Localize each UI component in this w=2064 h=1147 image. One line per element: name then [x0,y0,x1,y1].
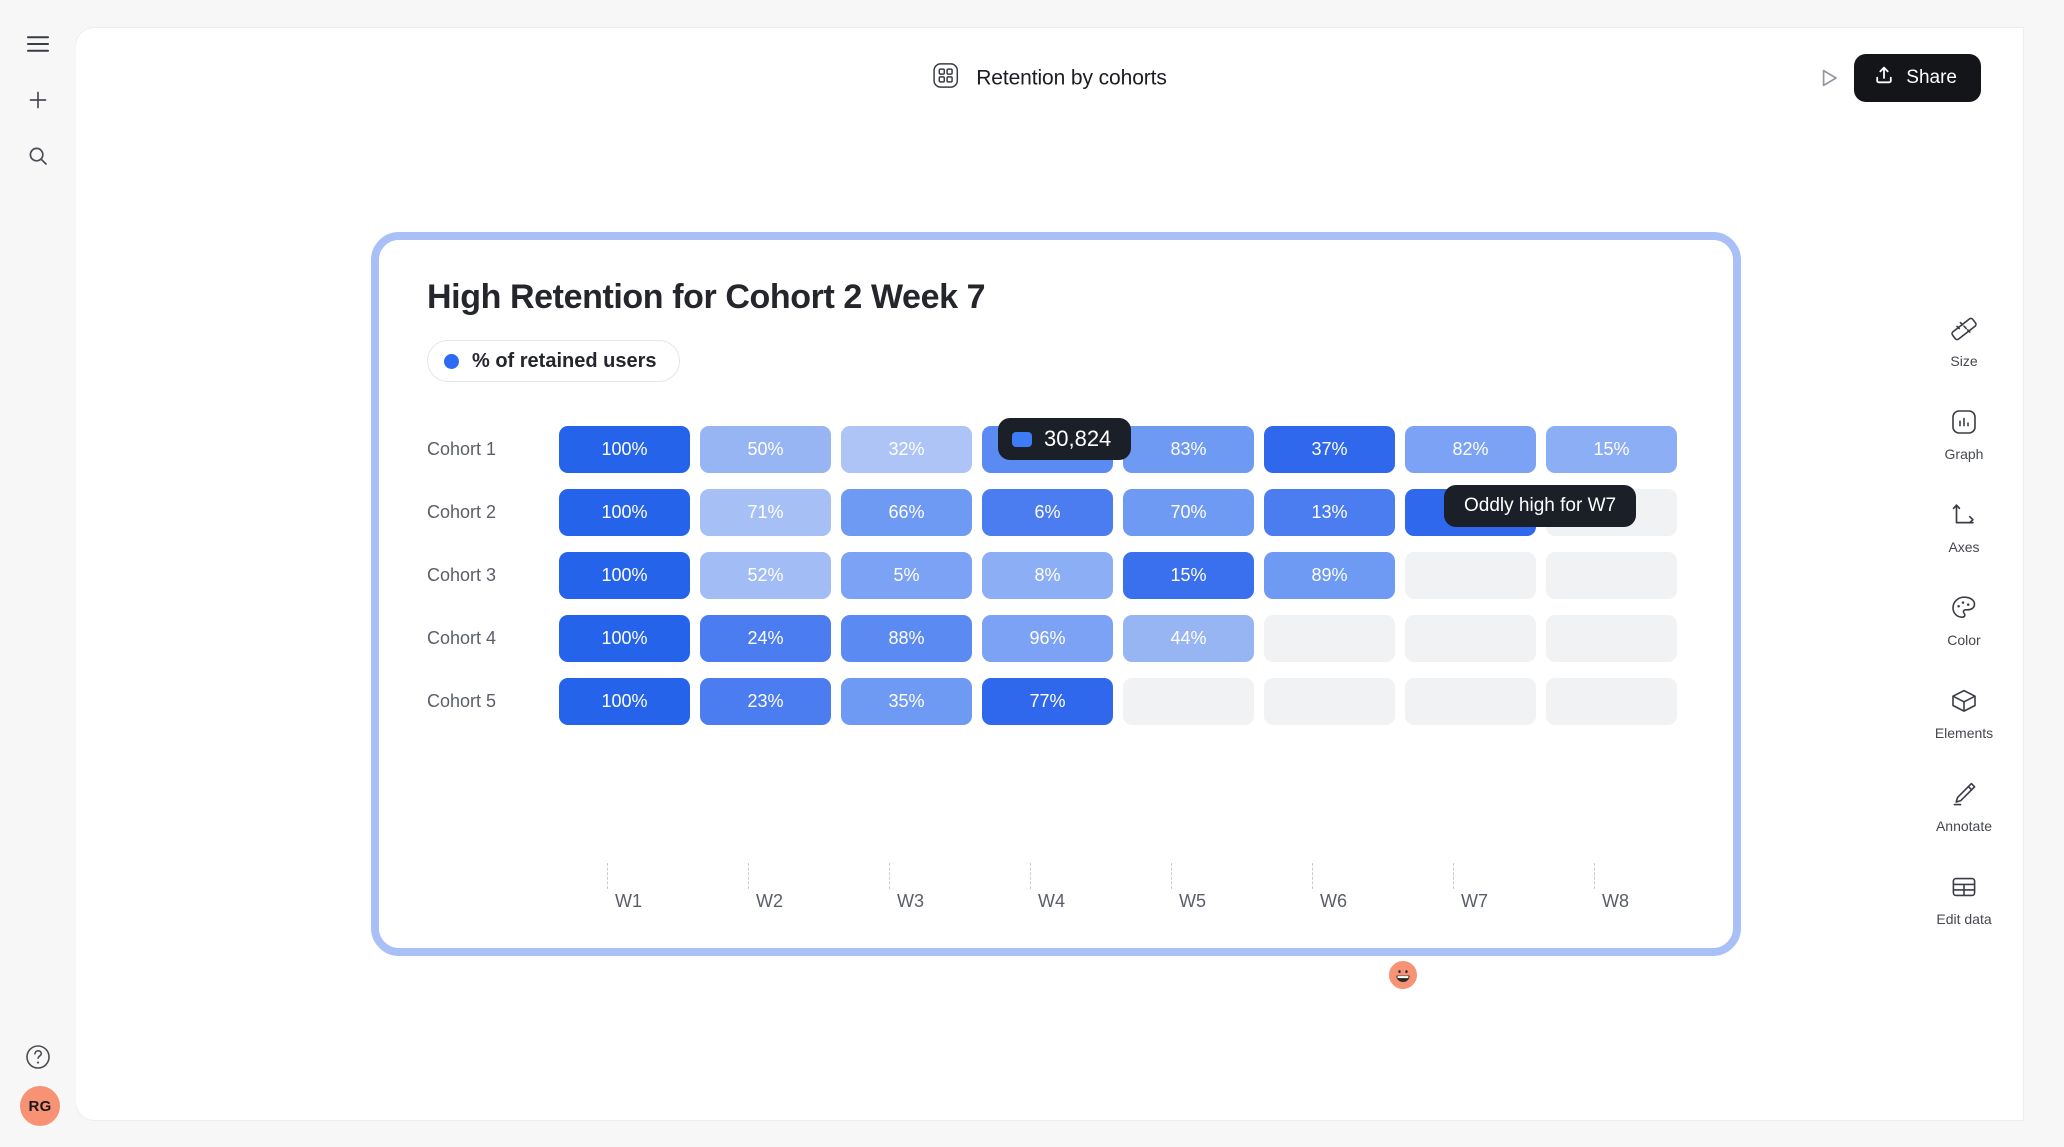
tool-edit-data[interactable]: Edit data [1914,870,2014,927]
tool-elements[interactable]: Elements [1914,684,2014,741]
tool-size[interactable]: Size [1914,312,2014,369]
tick-mark [1453,863,1454,889]
heatmap-cell[interactable]: 71% [700,489,831,536]
share-button[interactable]: Share [1854,54,1981,102]
tool-axes[interactable]: Axes [1914,498,2014,555]
heatmap-cell[interactable]: 82% [1405,426,1536,473]
x-axis-label: W6 [1320,891,1347,912]
heatmap-cell[interactable]: 24% [700,615,831,662]
heatmap-cell[interactable]: 6% [982,489,1113,536]
heatmap-cell[interactable]: 52% [700,552,831,599]
main-surface: Retention by cohorts Share H [76,28,2023,1120]
row-label: Cohort 3 [427,565,559,586]
x-axis-tick: W6 [1312,863,1453,923]
legend-label: % of retained users [472,350,657,373]
x-axis-tick: W4 [1030,863,1171,923]
heatmap-cell[interactable]: 8% [982,552,1113,599]
x-axis-label: W5 [1179,891,1206,912]
heatmap-cell[interactable]: 96% [982,615,1113,662]
heatmap-cell-empty [1546,552,1677,599]
heatmap-cell[interactable]: 70% [1123,489,1254,536]
heatmap-cell[interactable]: 100% [559,426,690,473]
x-axis-label: W7 [1461,891,1488,912]
heatmap-cell-empty [1546,615,1677,662]
row-label: Cohort 2 [427,502,559,523]
axes-icon [1947,498,1981,532]
emoji-reaction-badge[interactable] [1386,958,1420,992]
page-title: Retention by cohorts [976,66,1167,90]
row-cells: 100%24%88%96%44% [559,615,1677,662]
x-axis-tick: W2 [748,863,889,923]
heatmap-cell[interactable]: 23% [700,678,831,725]
tool-graph[interactable]: Graph [1914,405,2014,462]
x-axis-tick: W1 [607,863,748,923]
search-icon[interactable] [18,136,58,176]
heatmap-cell[interactable]: 5% [841,552,972,599]
heatmap-cell[interactable]: 89% [1264,552,1395,599]
tick-mark [1171,863,1172,889]
row-cells: 100%52%5%8%15%89% [559,552,1677,599]
heatmap-row: Cohort 4100%24%88%96%44% [427,615,1697,662]
tool-rail: SizeGraphAxesColorElementsAnnotateEdit d… [1905,312,2023,927]
heatmap-cell-empty [1546,678,1677,725]
tick-mark [1312,863,1313,889]
heatmap-cell[interactable]: 100% [559,489,690,536]
heatmap-cell-empty [1123,678,1254,725]
x-axis-label: W8 [1602,891,1629,912]
table-icon [1947,870,1981,904]
tool-label: Graph [1945,446,1984,462]
tool-label: Annotate [1936,818,1992,834]
ruler-icon [1947,312,1981,346]
share-button-label: Share [1906,67,1957,89]
bar-chart-icon [1947,405,1981,439]
row-cells: 100%23%35%77% [559,678,1677,725]
value-tooltip: 30,824 [998,418,1131,460]
tool-label: Color [1947,632,1980,648]
tick-mark [889,863,890,889]
tool-label: Size [1950,353,1977,369]
heatmap-cell[interactable]: 32% [841,426,972,473]
heatmap-cell-empty [1264,678,1395,725]
tool-color[interactable]: Color [1914,591,2014,648]
box-icon [1947,684,1981,718]
help-circle-icon[interactable] [18,1037,58,1077]
tool-label: Axes [1948,539,1979,555]
tick-mark [748,863,749,889]
heatmap-cell[interactable]: 37% [1264,426,1395,473]
plus-icon[interactable] [18,80,58,120]
legend-item[interactable]: % of retained users [427,340,680,382]
hamburger-menu-icon[interactable] [18,24,58,64]
chart-card-selection[interactable]: High Retention for Cohort 2 Week 7 % of … [371,232,1741,956]
heatmap-row: Cohort 5100%23%35%77% [427,678,1697,725]
x-axis-tick: W8 [1594,863,1735,923]
x-axis-label: W4 [1038,891,1065,912]
tool-label: Elements [1935,725,1993,741]
heatmap-cell[interactable]: 13% [1264,489,1395,536]
grinning-face-icon [1392,964,1414,986]
document-title[interactable]: Retention by cohorts [932,63,1167,94]
heatmap-cell[interactable]: 77% [982,678,1113,725]
heatmap-cell[interactable]: 50% [700,426,831,473]
x-axis-tick: W3 [889,863,1030,923]
legend-color-dot [444,354,459,369]
heatmap-row: Cohort 3100%52%5%8%15%89% [427,552,1697,599]
x-axis-label: W3 [897,891,924,912]
top-bar: Retention by cohorts Share [76,28,2023,128]
app-root: RG Retention by cohorts [0,0,2064,1147]
x-axis-tick: W5 [1171,863,1312,923]
heatmap-cell[interactable]: 66% [841,489,972,536]
heatmap-cell[interactable]: 44% [1123,615,1254,662]
left-rail: RG [0,0,76,1147]
heatmap-cell[interactable]: 100% [559,615,690,662]
heatmap-cell-empty [1405,678,1536,725]
x-axis-label: W2 [756,891,783,912]
grid-app-icon [932,63,958,94]
x-axis-label: W1 [615,891,642,912]
tooltip-swatch [1012,432,1032,447]
heatmap-cell-empty [1264,615,1395,662]
x-axis: W1W2W3W4W5W6W7W8 [607,863,1742,923]
heatmap-cell[interactable]: 15% [1546,426,1677,473]
row-label: Cohort 5 [427,691,559,712]
heatmap-cell[interactable]: 83% [1123,426,1254,473]
x-axis-tick: W7 [1453,863,1594,923]
heatmap-cell[interactable]: 100% [559,678,690,725]
heatmap-cell[interactable]: 88% [841,615,972,662]
row-label: Cohort 1 [427,439,559,460]
tooltip-value: 30,824 [1044,426,1111,452]
heatmap-cell-empty [1405,552,1536,599]
upload-icon [1874,65,1894,91]
annotation-text: Oddly high for W7 [1464,495,1616,517]
marker-pen-icon [1947,777,1981,811]
play-triangle-icon[interactable] [1811,60,1847,96]
tool-annotate[interactable]: Annotate [1914,777,2014,834]
annotation-tooltip[interactable]: Oddly high for W7 [1444,485,1636,527]
tick-mark [607,863,608,889]
heatmap-cell[interactable]: 35% [841,678,972,725]
heatmap-cell[interactable]: 100% [559,552,690,599]
tick-mark [1594,863,1595,889]
palette-icon [1947,591,1981,625]
avatar[interactable]: RG [20,1086,60,1126]
heatmap-cell[interactable]: 15% [1123,552,1254,599]
heatmap-cell-empty [1405,615,1536,662]
chart-title: High Retention for Cohort 2 Week 7 [427,278,985,317]
tick-mark [1030,863,1031,889]
row-label: Cohort 4 [427,628,559,649]
chart-card: High Retention for Cohort 2 Week 7 % of … [379,240,1733,948]
tool-label: Edit data [1936,911,1991,927]
